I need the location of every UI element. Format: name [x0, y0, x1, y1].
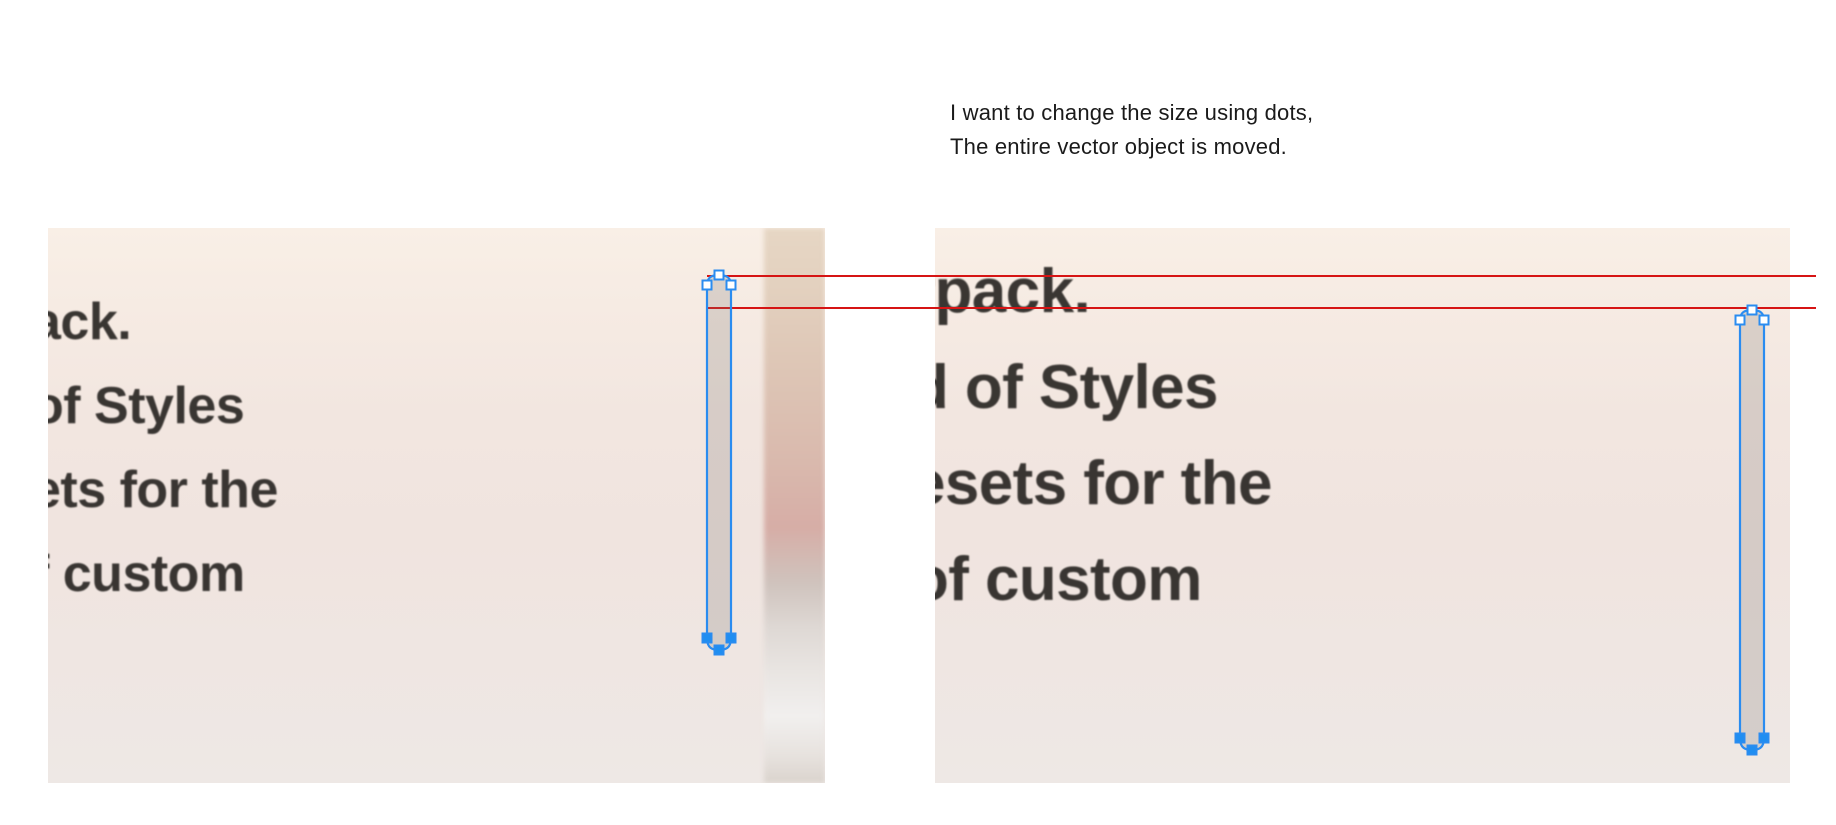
before-screenshot-panel[interactable]: ack. of Styles ets for the f custom — [48, 228, 825, 783]
blurred-text-right-line-3: esets for the — [935, 436, 1272, 532]
blurred-text-right-line-4: of custom — [935, 532, 1272, 628]
annotation-note: I want to change the size using dots, Th… — [950, 96, 1313, 164]
after-screenshot-panel[interactable]: rpack. d of Styles esets for the of cust… — [935, 228, 1790, 783]
annotation-note-line-2: The entire vector object is moved. — [950, 130, 1313, 164]
blurred-text-left: ack. of Styles ets for the f custom — [48, 280, 278, 616]
blurred-text-left-line-1: ack. — [48, 280, 278, 364]
blurred-text-right-line-2: d of Styles — [935, 340, 1272, 436]
annotation-note-line-1: I want to change the size using dots, — [950, 96, 1313, 130]
blurred-text-left-line-4: f custom — [48, 532, 278, 616]
blurred-text-left-line-3: ets for the — [48, 448, 278, 532]
design-canvas[interactable]: I want to change the size using dots, Th… — [0, 0, 1836, 825]
blurred-text-left-line-2: of Styles — [48, 364, 278, 448]
panel-edge-blur-strip-left — [764, 228, 825, 783]
blurred-text-right-line-1: rpack. — [935, 244, 1272, 340]
blurred-text-right: rpack. d of Styles esets for the of cust… — [935, 244, 1272, 628]
